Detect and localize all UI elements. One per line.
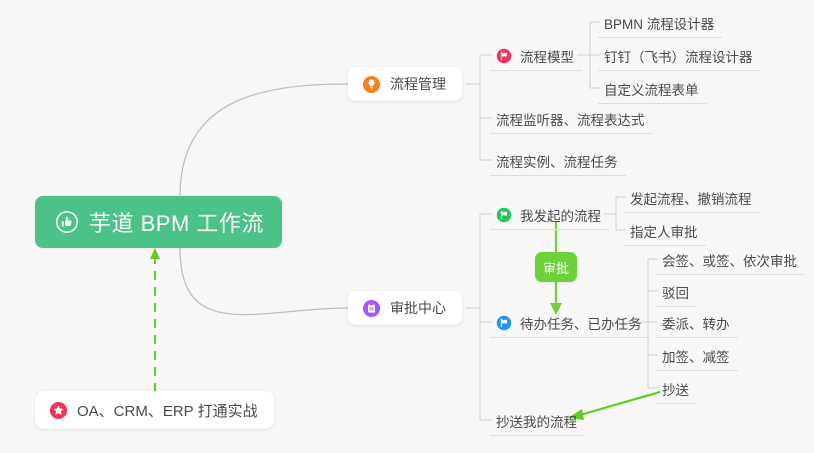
node-label: 自定义流程表单	[604, 79, 699, 99]
badge-label: 审批	[543, 258, 569, 277]
node-label: 会签、或签、依次审批	[662, 250, 797, 270]
link-root-to-process-management	[180, 84, 348, 196]
node-countersign-orsign-sequential[interactable]: 会签、或签、依次审批	[656, 245, 805, 275]
branch-node-process-management[interactable]: 流程管理	[348, 67, 462, 101]
footnote-node[interactable]: OA、CRM、ERP 打通实战	[35, 391, 274, 429]
node-label: 抄送	[662, 379, 689, 399]
node-process-instance-task[interactable]: 流程实例、流程任务	[490, 146, 626, 176]
node-cc-to-me-process[interactable]: 抄送我的流程	[490, 406, 585, 436]
thumbs-up-icon	[55, 210, 79, 234]
node-label: 我发起的流程	[520, 205, 601, 225]
branch-label: 审批中心	[390, 298, 446, 318]
node-label: 钉钉（飞书）流程设计器	[604, 46, 753, 66]
node-label: 抄送我的流程	[496, 411, 577, 431]
node-assignee-approval[interactable]: 指定人审批	[624, 216, 706, 246]
flag-blue-icon	[496, 315, 512, 331]
mindmap-canvas: 芋道 BPM 工作流 OA、CRM、ERP 打通实战 流程管理	[0, 0, 814, 453]
branch-label: 流程管理	[390, 74, 446, 94]
footnote-label: OA、CRM、ERP 打通实战	[77, 400, 258, 421]
node-process-listener-expression[interactable]: 流程监听器、流程表达式	[490, 104, 653, 134]
node-label: 指定人审批	[630, 221, 698, 241]
node-label: 流程模型	[520, 46, 574, 66]
star-icon	[49, 401, 68, 420]
lightbulb-icon	[362, 75, 381, 94]
node-start-cancel-process[interactable]: 发起流程、撤销流程	[624, 183, 760, 213]
node-label: 流程监听器、流程表达式	[496, 109, 645, 129]
clipboard-icon	[362, 299, 381, 318]
node-label: 流程实例、流程任务	[496, 151, 618, 171]
arrow-footnote-to-root-head	[150, 248, 160, 259]
node-label: BPMN 流程设计器	[604, 13, 714, 33]
node-label: 加签、减签	[662, 346, 730, 366]
root-label: 芋道 BPM 工作流	[89, 206, 264, 238]
node-custom-process-form[interactable]: 自定义流程表单	[598, 74, 707, 104]
node-reject[interactable]: 驳回	[656, 277, 697, 307]
arrow-cc-to-ccme	[580, 392, 660, 415]
node-add-sign-remove-sign[interactable]: 加签、减签	[656, 341, 738, 371]
node-cc[interactable]: 抄送	[656, 374, 697, 404]
link-root-to-approval-center	[180, 248, 348, 315]
node-bpmn-designer[interactable]: BPMN 流程设计器	[598, 8, 722, 38]
root-node[interactable]: 芋道 BPM 工作流	[35, 196, 282, 248]
node-delegate-transfer[interactable]: 委派、转办	[656, 308, 738, 338]
branch-node-approval-center[interactable]: 审批中心	[348, 291, 462, 325]
node-label: 委派、转办	[662, 313, 730, 333]
flag-red-icon	[496, 48, 512, 64]
flag-green-icon	[496, 207, 512, 223]
node-dingtalk-feishu-designer[interactable]: 钉钉（飞书）流程设计器	[598, 41, 761, 71]
node-label: 发起流程、撤销流程	[630, 188, 752, 208]
node-label: 驳回	[662, 282, 689, 302]
node-label: 待办任务、已办任务	[520, 313, 642, 333]
node-todo-done-task[interactable]: 待办任务、已办任务	[490, 308, 650, 338]
node-process-model[interactable]: 流程模型	[490, 41, 582, 71]
badge-approval[interactable]: 审批	[535, 252, 577, 282]
node-my-initiated-process[interactable]: 我发起的流程	[490, 200, 609, 230]
